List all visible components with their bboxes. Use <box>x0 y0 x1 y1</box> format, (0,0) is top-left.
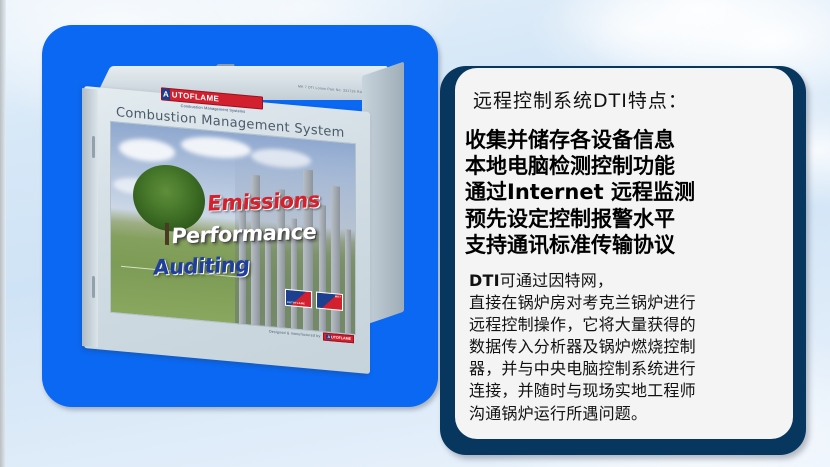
feature-item-1: 收集并储存各设备信息 <box>465 127 793 153</box>
feature-item-3-post: 远程监测 <box>604 179 695 204</box>
description-line-1: DTI可通过因特网， <box>469 270 793 292</box>
device-screen-artwork: Emissions Performance Auditing AUTOFLAME… <box>110 121 356 335</box>
slide-canvas: A UTOFLAME Combustion Management Systems… <box>0 0 830 467</box>
description-line-5: 器，并与中央电脑控制系统进行 <box>469 358 793 380</box>
description-line-4: 数据传入分析器及锅炉燃烧控制 <box>469 336 793 358</box>
feature-item-5: 支持通讯标准传输协议 <box>465 232 793 258</box>
made-by-logo-text: UTOFLAME <box>331 335 351 341</box>
feature-item-2: 本地电脑检测控制功能 <box>465 153 793 179</box>
artwork-tree-trunk <box>165 223 169 245</box>
description-line-6: 连接，并随时与现场实地工程师 <box>469 380 793 402</box>
description-line-3: 远程控制操作，它将大量获得的 <box>469 314 793 336</box>
artwork-pipe <box>345 229 351 334</box>
flag-badge-right: MK7 <box>316 292 343 311</box>
device-left-lip <box>82 88 98 347</box>
features-bullet-list: 收集并储存各设备信息 本地电脑检测控制功能 通过Internet 远程监测 预先… <box>465 127 793 258</box>
artwork-cloud <box>119 137 175 164</box>
description-line-7: 沟通锅炉运行所遇问题。 <box>469 403 793 425</box>
device-hinge-bottom <box>92 276 95 298</box>
flag-badge-left-label: AUTOFLAME <box>287 301 305 306</box>
feature-item-4: 预先设定控制报警水平 <box>465 206 793 232</box>
features-title: 远程控制系统DTI特点： <box>473 90 793 113</box>
artwork-word-emissions: Emissions <box>206 188 321 216</box>
features-panel: 远程控制系统DTI特点： 收集并储存各设备信息 本地电脑检测控制功能 通过Int… <box>455 68 793 439</box>
feature-item-3: 通过Internet 远程监测 <box>465 179 793 205</box>
left-edge-border <box>0 0 6 467</box>
description-line-2: 直接在锅炉房对考克兰锅炉进行 <box>469 292 793 314</box>
autoflame-logo-initial: A <box>162 88 170 100</box>
flag-badge-left: AUTOFLAME <box>285 289 312 308</box>
artwork-word-auditing: Auditing <box>152 253 251 280</box>
device-hinge-top <box>92 136 95 158</box>
artwork-pipe <box>319 205 326 332</box>
description-line-1-post: 可通过因特网， <box>500 271 613 290</box>
autoflame-dti-device-photo: A UTOFLAME Combustion Management Systems… <box>66 58 418 358</box>
feature-item-3-latin: Internet <box>507 180 604 204</box>
description-line-1-latin: DTI <box>469 271 500 290</box>
features-description: DTI可通过因特网， 直接在锅炉房对考克兰锅炉进行 远程控制操作，它将大量获得的… <box>469 270 793 425</box>
artwork-word-performance: Performance <box>170 220 317 249</box>
feature-item-3-pre: 通过 <box>465 179 507 204</box>
flag-badge-right-label: MK7 <box>335 295 341 299</box>
